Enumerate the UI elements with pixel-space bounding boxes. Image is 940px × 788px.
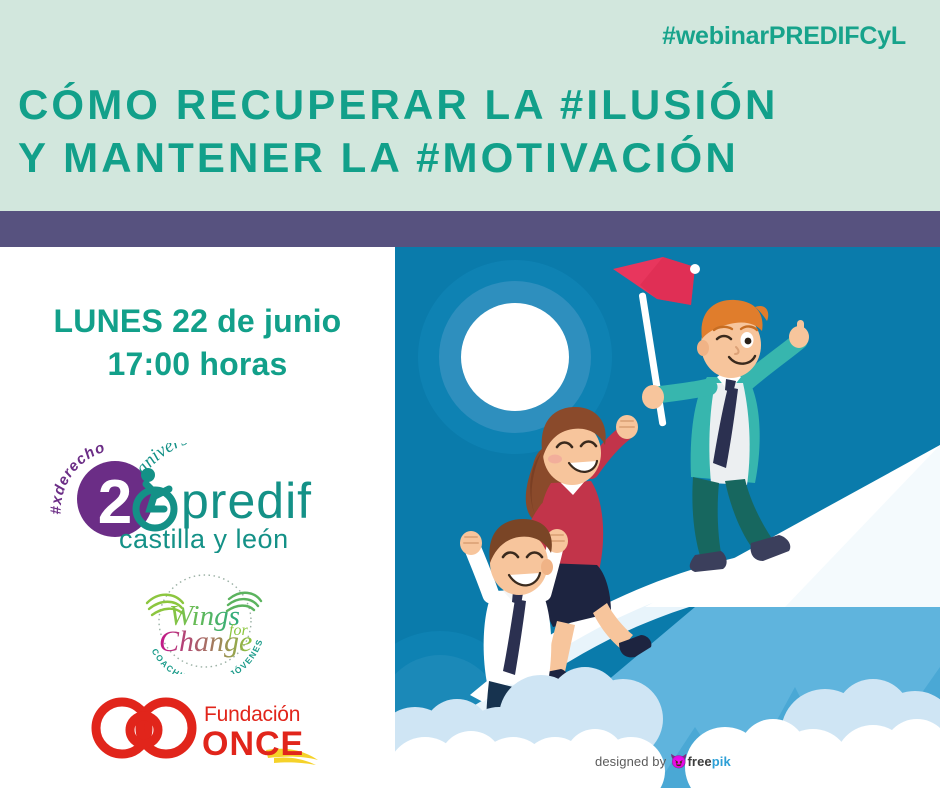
fundacion-once-logo: Fundación ONCE [88, 690, 323, 765]
svg-text:ONCE: ONCE [202, 725, 304, 763]
event-time: 17:00 horas [0, 343, 395, 386]
credit-prefix: designed by [595, 754, 666, 769]
campaign-hashtag: #webinarPREDIFCyL [662, 22, 906, 51]
freepik-robot-icon: 😈 [670, 753, 688, 769]
event-date: LUNES 22 de junio [0, 300, 395, 343]
info-column: LUNES 22 de junio 17:00 horas #xderecho … [0, 247, 395, 788]
wings-for-change-logo: Wings for Change COACHING PARA JÓVENES [125, 569, 285, 674]
freepik-attribution: designed by 😈freepik [595, 753, 731, 770]
credit-brand-first: free [687, 754, 711, 769]
predif-castilla-y-leon-logo: #xderecho 2 aniversario predif [47, 443, 347, 553]
header-band: #webinarPREDIFCyL CÓMO RECUPERAR LA #ILU… [0, 0, 940, 211]
title-line-1: CÓMO RECUPERAR LA #ILUSIÓN [18, 78, 922, 131]
svg-text:Fundación: Fundación [204, 703, 300, 726]
svg-text:predif: predif [181, 473, 312, 529]
webinar-poster: #webinarPREDIFCyL CÓMO RECUPERAR LA #ILU… [0, 0, 940, 788]
svg-text:castilla y león: castilla y león [119, 524, 289, 553]
team-climbing-mountain-illustration: designed by 😈freepik [395, 247, 940, 788]
title-line-2: Y MANTENER LA #MOTIVACIÓN [18, 131, 922, 184]
svg-text:Change: Change [159, 625, 252, 658]
credit-brand-second: pik [712, 754, 731, 769]
purple-divider-bar [0, 211, 940, 247]
event-datetime: LUNES 22 de junio 17:00 horas [0, 300, 395, 386]
poster-title: CÓMO RECUPERAR LA #ILUSIÓN Y MANTENER LA… [18, 78, 922, 184]
